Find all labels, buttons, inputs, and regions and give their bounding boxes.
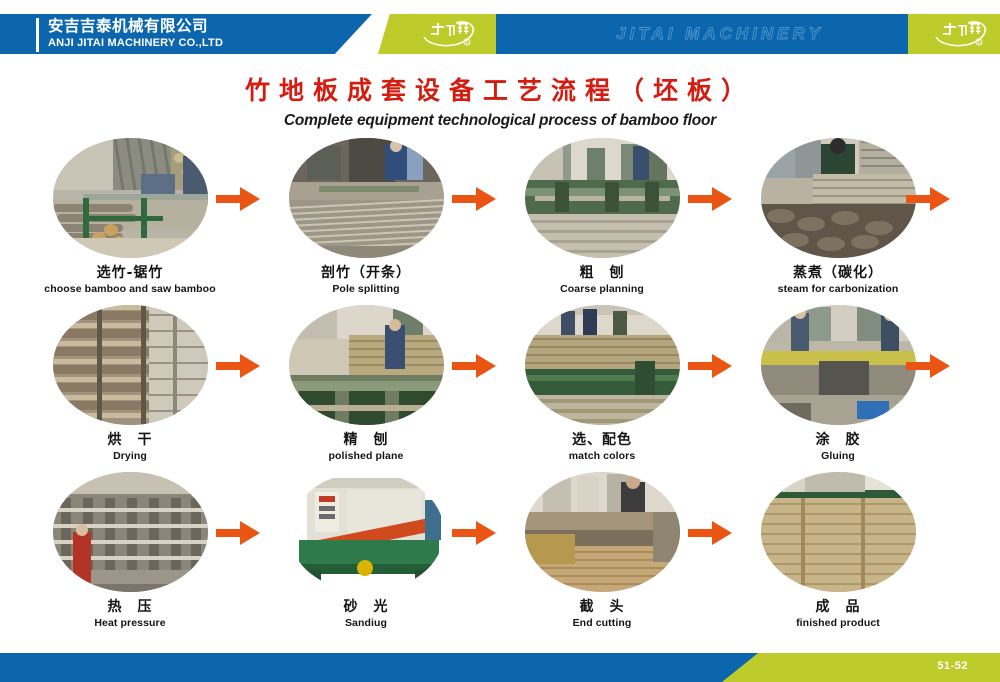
process-step-8-caption: 涂 胶 Gluing	[720, 431, 956, 463]
flow-arrow-icon	[216, 184, 262, 214]
heat-pressure-photo	[53, 472, 208, 592]
step-label-en: match colors	[484, 450, 720, 463]
process-step-10-caption: 砂 光 Sandiug	[248, 598, 484, 630]
process-step-12-caption: 成 品 finished product	[720, 598, 956, 630]
process-step-3: 粗 刨 Coarse planning	[484, 138, 720, 296]
step-label-en: End cutting	[484, 617, 720, 630]
step-label-en: Coarse planning	[484, 283, 720, 296]
pole-splitting-photo-wrap	[289, 138, 444, 258]
gluing-photo-wrap	[761, 305, 916, 425]
process-step-2: 剖竹（开条） Pole splitting	[248, 138, 484, 296]
process-step-9: 热 压 Heat pressure	[12, 472, 248, 630]
end-cutting-photo-wrap	[525, 472, 680, 592]
page-title-en: Complete equipment technological process…	[0, 111, 1000, 131]
process-step-8: 涂 胶 Gluing	[720, 305, 956, 463]
company-name-en: ANJI JITAI MACHINERY CO.,LTD	[48, 36, 366, 50]
step-label-cn: 涂 胶	[720, 431, 956, 449]
polished-plane-photo-wrap	[289, 305, 444, 425]
step-label-cn: 粗 刨	[484, 264, 720, 282]
carbonization-photo-wrap	[761, 138, 916, 258]
step-label-en: Pole splitting	[248, 283, 484, 296]
finished-product-photo-wrap	[761, 472, 916, 592]
saw-bamboo-photo-wrap	[53, 138, 208, 258]
step-label-en: Gluing	[720, 450, 956, 463]
process-row-1: 选竹-锯竹 choose bamboo and saw bamboo	[0, 138, 1000, 305]
flow-arrow-icon	[452, 184, 498, 214]
step-label-cn: 烘 干	[12, 431, 248, 449]
step-label-cn: 选、配色	[484, 431, 720, 449]
svg-text:R: R	[978, 40, 981, 45]
process-step-6-caption: 精 刨 polished plane	[248, 431, 484, 463]
brand-wordmark: JITAI MACHINERY	[560, 24, 880, 46]
catalog-page: 安吉吉泰机械有限公司 ANJI JITAI MACHINERY CO.,LTD …	[0, 0, 1000, 682]
process-step-10: 砂 光 Sandiug	[248, 472, 484, 630]
sanding-photo	[289, 472, 444, 592]
process-step-7-caption: 选、配色 match colors	[484, 431, 720, 463]
process-step-5-caption: 烘 干 Drying	[12, 431, 248, 463]
flow-arrow-icon	[906, 351, 952, 381]
flow-arrow-icon	[216, 518, 262, 548]
carbonization-photo	[761, 138, 916, 258]
step-label-en: steam for carbonization	[720, 283, 956, 296]
match-colors-photo	[525, 305, 680, 425]
footer-blue-band	[0, 653, 760, 682]
step-label-cn: 蒸煮（碳化）	[720, 264, 956, 282]
step-label-cn: 成 品	[720, 598, 956, 616]
flow-arrow-icon	[906, 184, 952, 214]
company-name-cn: 安吉吉泰机械有限公司	[48, 18, 366, 35]
jitai-logo-icon-right: R	[930, 17, 996, 51]
step-label-en: Drying	[12, 450, 248, 463]
step-label-cn: 剖竹（开条）	[248, 264, 484, 282]
process-step-11-caption: 截 头 End cutting	[484, 598, 720, 630]
page-header: 安吉吉泰机械有限公司 ANJI JITAI MACHINERY CO.,LTD …	[0, 14, 1000, 54]
coarse-planning-photo-wrap	[525, 138, 680, 258]
process-step-11: 截 头 End cutting	[484, 472, 720, 630]
process-flow-grid: 选竹-锯竹 choose bamboo and saw bamboo	[0, 138, 1000, 639]
page-title-cn: 竹地板成套设备工艺流程（坯板）	[0, 76, 1000, 106]
step-label-cn: 选竹-锯竹	[12, 264, 248, 282]
process-row-3: 热 压 Heat pressure	[0, 472, 1000, 639]
process-step-4-caption: 蒸煮（碳化） steam for carbonization	[720, 264, 956, 296]
flow-arrow-icon	[452, 518, 498, 548]
process-step-6: 精 刨 polished plane	[248, 305, 484, 463]
flow-arrow-icon	[688, 184, 734, 214]
process-step-7: 选、配色 match colors	[484, 305, 720, 463]
flow-arrow-icon	[688, 351, 734, 381]
process-step-9-caption: 热 压 Heat pressure	[12, 598, 248, 630]
saw-bamboo-photo	[53, 138, 208, 258]
step-label-en: polished plane	[248, 450, 484, 463]
process-step-3-caption: 粗 刨 Coarse planning	[484, 264, 720, 296]
process-step-4: 蒸煮（碳化） steam for carbonization	[720, 138, 956, 296]
step-label-cn: 砂 光	[248, 598, 484, 616]
gluing-photo	[761, 305, 916, 425]
process-step-2-caption: 剖竹（开条） Pole splitting	[248, 264, 484, 296]
step-label-cn: 热 压	[12, 598, 248, 616]
company-name-block: 安吉吉泰机械有限公司 ANJI JITAI MACHINERY CO.,LTD	[36, 18, 366, 52]
process-step-1: 选竹-锯竹 choose bamboo and saw bamboo	[12, 138, 248, 296]
process-step-5: 烘 干 Drying	[12, 305, 248, 463]
end-cutting-photo	[525, 472, 680, 592]
coarse-planning-photo	[525, 138, 680, 258]
process-step-12: 成 品 finished product	[720, 472, 956, 630]
jitai-logo-icon: R	[418, 17, 484, 51]
page-title-block: 竹地板成套设备工艺流程（坯板） Complete equipment techn…	[0, 76, 1000, 131]
finished-product-photo	[761, 472, 916, 592]
heat-pressure-photo-wrap	[53, 472, 208, 592]
step-label-en: Heat pressure	[12, 617, 248, 630]
polished-plane-photo	[289, 305, 444, 425]
step-label-en: choose bamboo and saw bamboo	[12, 283, 248, 296]
page-number: 51-52	[937, 660, 968, 672]
page-footer: 51-52	[0, 653, 1000, 682]
flow-arrow-icon	[688, 518, 734, 548]
process-step-1-caption: 选竹-锯竹 choose bamboo and saw bamboo	[12, 264, 248, 296]
flow-arrow-icon	[216, 351, 262, 381]
drying-photo-wrap	[53, 305, 208, 425]
flow-arrow-icon	[452, 351, 498, 381]
match-colors-photo-wrap	[525, 305, 680, 425]
step-label-en: finished product	[720, 617, 956, 630]
pole-splitting-photo	[289, 138, 444, 258]
drying-photo	[53, 305, 208, 425]
step-label-cn: 截 头	[484, 598, 720, 616]
sanding-photo-wrap	[289, 472, 444, 592]
process-row-2: 烘 干 Drying	[0, 305, 1000, 472]
step-label-cn: 精 刨	[248, 431, 484, 449]
svg-text:R: R	[466, 40, 469, 45]
step-label-en: Sandiug	[248, 617, 484, 630]
